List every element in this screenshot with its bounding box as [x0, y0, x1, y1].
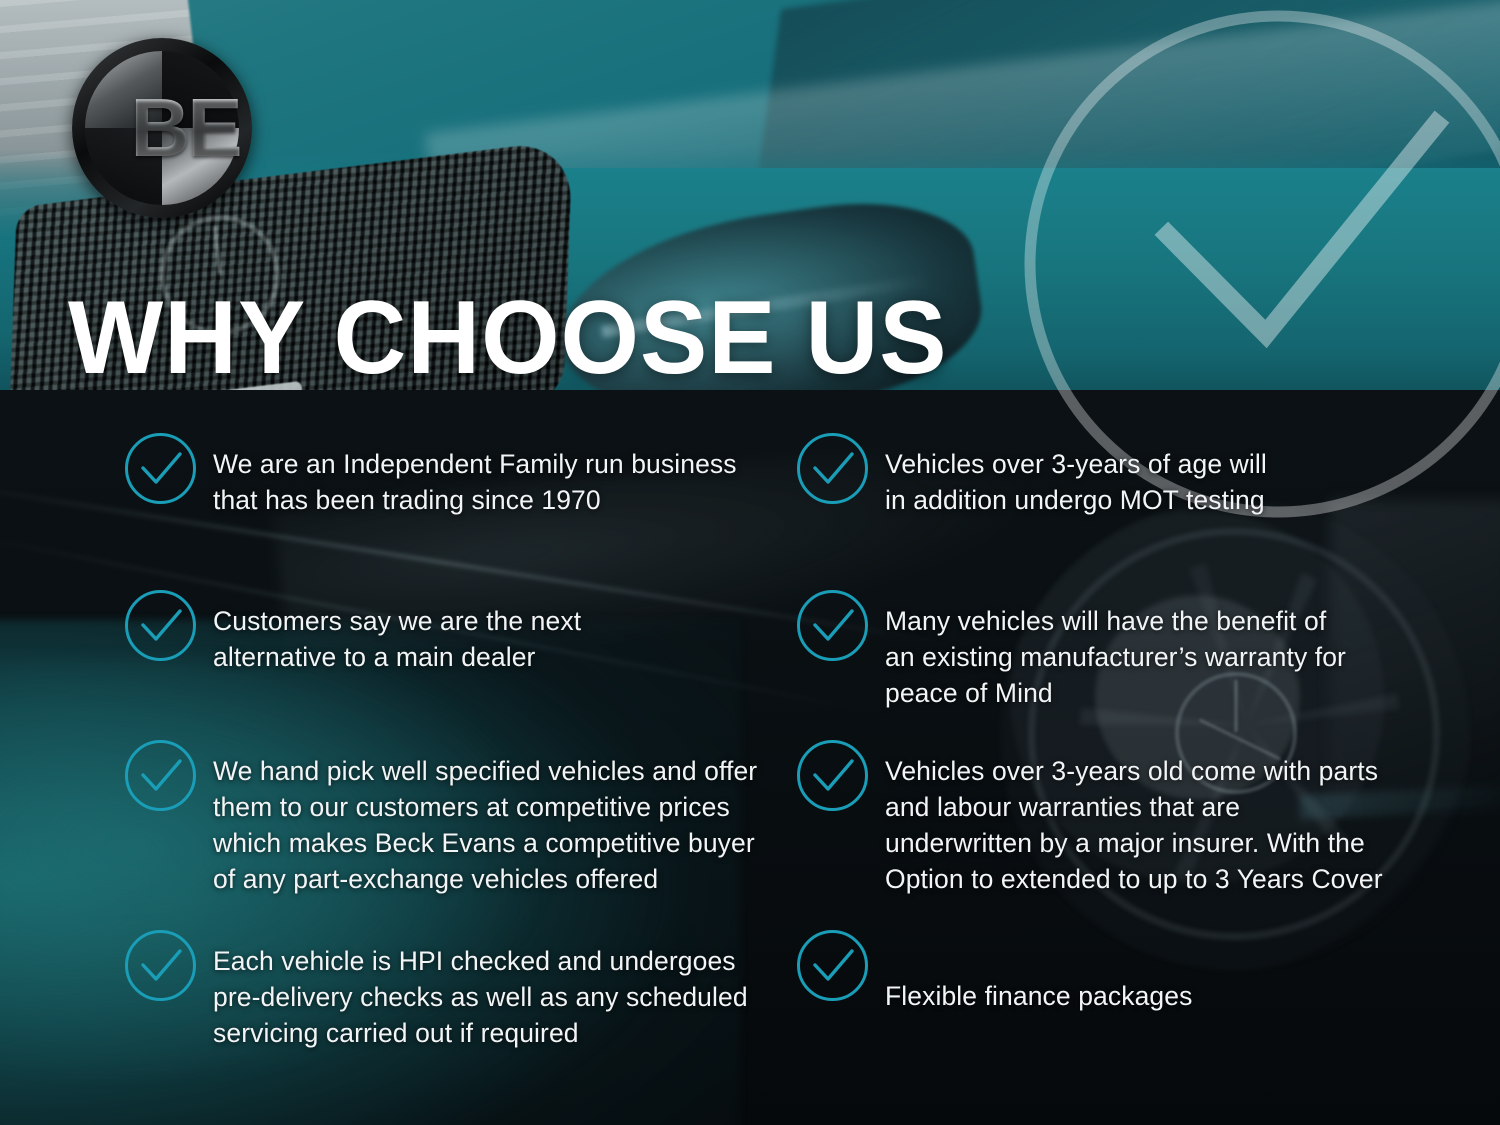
- check-circle-icon: [124, 929, 197, 1002]
- list-item[interactable]: Vehicles over 3-years old come with part…: [796, 739, 1383, 897]
- list-item-text: Customers say we are the next alternativ…: [213, 589, 581, 675]
- brand-logo[interactable]: BE: [72, 38, 252, 218]
- list-item[interactable]: We are an Independent Family run busines…: [124, 432, 737, 518]
- list-item[interactable]: Vehicles over 3-years of age will in add…: [796, 432, 1267, 518]
- list-item-text: Many vehicles will have the benefit of a…: [885, 589, 1346, 711]
- list-item-text: Each vehicle is HPI checked and undergoe…: [213, 929, 748, 1051]
- check-circle-icon: [796, 739, 869, 812]
- benefits-columns: We are an Independent Family run busines…: [0, 432, 1500, 1092]
- check-circle-icon: [124, 432, 197, 505]
- list-item[interactable]: Customers say we are the next alternativ…: [124, 589, 581, 675]
- page-title: WHY CHOOSE US: [68, 286, 948, 390]
- check-circle-icon: [124, 589, 197, 662]
- why-choose-us-slide: S FC BE WHY CHOOSE US: [0, 0, 1500, 1125]
- list-item[interactable]: Flexible finance packages: [796, 929, 1192, 1014]
- check-circle-icon: [796, 589, 869, 662]
- check-circle-icon: [796, 432, 869, 505]
- list-item-text: We hand pick well specified vehicles and…: [213, 739, 757, 897]
- list-item[interactable]: Many vehicles will have the benefit of a…: [796, 589, 1346, 711]
- list-item-text: Vehicles over 3-years of age will in add…: [885, 432, 1267, 518]
- check-circle-icon: [124, 739, 197, 812]
- list-item-text: Flexible finance packages: [885, 929, 1192, 1014]
- list-item[interactable]: We hand pick well specified vehicles and…: [124, 739, 757, 897]
- logo-letters: BE: [72, 38, 252, 218]
- check-circle-icon: [796, 929, 869, 1002]
- list-item-text: Vehicles over 3-years old come with part…: [885, 739, 1383, 897]
- list-item-text: We are an Independent Family run busines…: [213, 432, 737, 518]
- list-item[interactable]: Each vehicle is HPI checked and undergoe…: [124, 929, 748, 1051]
